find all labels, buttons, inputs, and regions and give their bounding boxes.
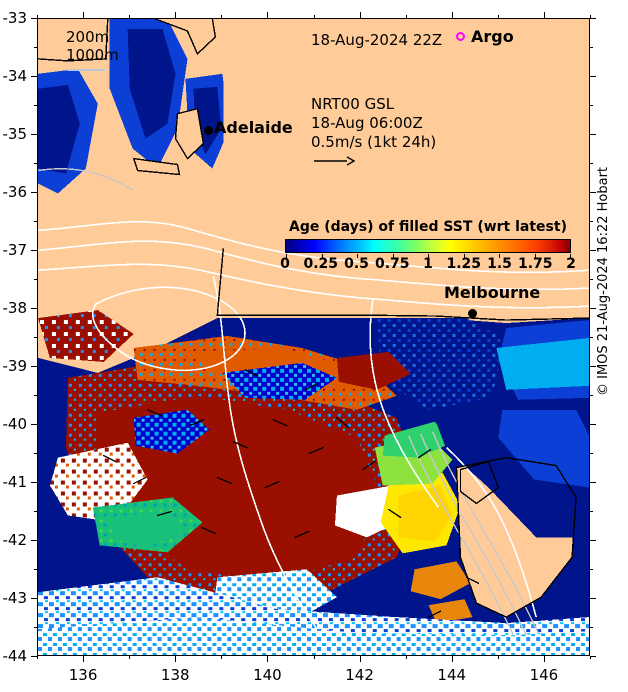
- y-axis-label: -38: [0, 299, 27, 317]
- y-axis-tick: [31, 540, 37, 541]
- depth-contour-200m-label: 200m: [66, 28, 109, 46]
- y-axis-minor-tick: [34, 337, 37, 338]
- depth-contour-sample-line: [67, 69, 105, 71]
- y-axis-minor-tick: [34, 569, 37, 570]
- argo-marker-icon: [456, 32, 465, 41]
- y-axis-tick: [31, 308, 37, 309]
- x-axis-tick: [267, 656, 268, 662]
- y-axis-label: -41: [0, 473, 27, 491]
- x-axis-tick-top: [544, 12, 545, 18]
- x-axis-label: 146: [514, 666, 574, 684]
- x-axis-minor-tick: [498, 15, 499, 18]
- y-axis-minor-tick: [34, 511, 37, 512]
- y-axis-label: -43: [0, 589, 27, 607]
- y-axis-minor-tick: [34, 395, 37, 396]
- x-axis-tick: [544, 656, 545, 662]
- x-axis-minor-tick: [221, 15, 222, 18]
- city-marker-melbourne: [468, 309, 477, 318]
- city-label-melbourne: Melbourne: [444, 283, 540, 302]
- y-axis-label: -33: [0, 9, 27, 27]
- x-axis-minor-tick: [314, 15, 315, 18]
- x-axis-tick: [83, 656, 84, 662]
- x-axis-minor-tick: [314, 656, 315, 659]
- x-axis-tick-top: [360, 12, 361, 18]
- y-axis-label: -44: [0, 647, 27, 665]
- y-axis-tick-right: [590, 134, 596, 135]
- city-label-adelaide: Adelaide: [214, 118, 293, 137]
- y-axis-tick-right: [590, 250, 596, 251]
- y-axis-label: -36: [0, 183, 27, 201]
- y-axis-minor-tick: [590, 627, 593, 628]
- y-axis-tick-right: [590, 482, 596, 483]
- y-axis-minor-tick: [590, 279, 593, 280]
- current-scale-label: 0.5m/s (1kt 24h): [311, 133, 436, 151]
- colorbar-tick-label: 2: [549, 256, 590, 272]
- x-axis-tick: [175, 656, 176, 662]
- y-axis-label: -40: [0, 415, 27, 433]
- y-axis-tick: [31, 76, 37, 77]
- y-axis-minor-tick: [590, 337, 593, 338]
- x-axis-label: 136: [53, 666, 113, 684]
- credit-text: © IMOS 21-Aug-2024 16:22 Hobart: [596, 167, 611, 396]
- y-axis-minor-tick: [34, 47, 37, 48]
- y-axis-tick: [31, 598, 37, 599]
- y-axis-tick: [31, 482, 37, 483]
- y-axis-tick-right: [590, 540, 596, 541]
- colorbar-gradient: [285, 239, 571, 253]
- y-axis-minor-tick: [590, 47, 593, 48]
- x-axis-label: 142: [330, 666, 390, 684]
- map-plot-area[interactable]: 200m 1000m 18-Aug-2024 22Z Argo NRT00 GS…: [37, 18, 590, 656]
- y-axis-minor-tick: [34, 163, 37, 164]
- y-axis-minor-tick: [590, 163, 593, 164]
- y-axis-tick: [31, 250, 37, 251]
- y-axis-tick-right: [590, 76, 596, 77]
- y-axis-minor-tick: [34, 279, 37, 280]
- y-axis-tick: [31, 134, 37, 135]
- x-axis-tick: [360, 656, 361, 662]
- y-axis-minor-tick: [34, 627, 37, 628]
- y-axis-tick-right: [590, 366, 596, 367]
- x-axis-minor-tick: [129, 15, 130, 18]
- x-axis-minor-tick: [406, 656, 407, 659]
- y-axis-tick-right: [590, 308, 596, 309]
- y-axis-minor-tick: [590, 569, 593, 570]
- y-axis-minor-tick: [590, 105, 593, 106]
- y-axis-tick: [31, 656, 37, 657]
- depth-contour-1000m-label: 1000m: [66, 46, 119, 64]
- x-axis-minor-tick: [37, 15, 38, 18]
- x-axis-minor-tick: [221, 656, 222, 659]
- map-timestamp: 18-Aug-2024 22Z: [311, 31, 442, 49]
- current-source-label: NRT00 GSL: [311, 95, 394, 113]
- y-axis-tick: [31, 424, 37, 425]
- y-axis-minor-tick: [590, 221, 593, 222]
- y-axis-tick: [31, 192, 37, 193]
- x-axis-label: 140: [237, 666, 297, 684]
- y-axis-tick-right: [590, 656, 596, 657]
- x-axis-minor-tick: [498, 656, 499, 659]
- current-scale-arrow-icon: [313, 152, 355, 171]
- y-axis-label: -42: [0, 531, 27, 549]
- city-marker-adelaide: [204, 126, 213, 135]
- y-axis-minor-tick: [34, 453, 37, 454]
- y-axis-minor-tick: [590, 395, 593, 396]
- y-axis-label: -34: [0, 67, 27, 85]
- y-axis-label: -35: [0, 125, 27, 143]
- argo-legend-label: Argo: [471, 27, 514, 46]
- colorbar-title: Age (days) of filled SST (wrt latest): [285, 219, 571, 235]
- x-axis-label: 138: [145, 666, 205, 684]
- y-axis-minor-tick: [34, 221, 37, 222]
- x-axis-tick: [452, 656, 453, 662]
- y-axis-tick-right: [590, 192, 596, 193]
- y-axis-minor-tick: [590, 453, 593, 454]
- y-axis-label: -39: [0, 357, 27, 375]
- y-axis-tick-right: [590, 18, 596, 19]
- x-axis-tick-top: [83, 12, 84, 18]
- x-axis-minor-tick: [37, 656, 38, 659]
- colorbar-tick-labels: 00.250.50.7511.251.51.752: [285, 256, 571, 276]
- x-axis-tick-top: [175, 12, 176, 18]
- x-axis-tick-top: [267, 12, 268, 18]
- current-time-label: 18-Aug 06:00Z: [311, 114, 423, 132]
- y-axis-tick: [31, 366, 37, 367]
- y-axis-minor-tick: [34, 105, 37, 106]
- y-axis-tick-right: [590, 424, 596, 425]
- x-axis-label: 144: [422, 666, 482, 684]
- x-axis-tick-top: [452, 12, 453, 18]
- y-axis-label: -37: [0, 241, 27, 259]
- y-axis-minor-tick: [590, 511, 593, 512]
- x-axis-minor-tick: [129, 656, 130, 659]
- y-axis-tick: [31, 18, 37, 19]
- figure-canvas: 200m 1000m 18-Aug-2024 22Z Argo NRT00 GS…: [0, 0, 628, 692]
- x-axis-minor-tick: [406, 15, 407, 18]
- y-axis-tick-right: [590, 598, 596, 599]
- colorbar: Age (days) of filled SST (wrt latest) 00…: [285, 219, 571, 276]
- argo-legend: Argo: [456, 27, 514, 46]
